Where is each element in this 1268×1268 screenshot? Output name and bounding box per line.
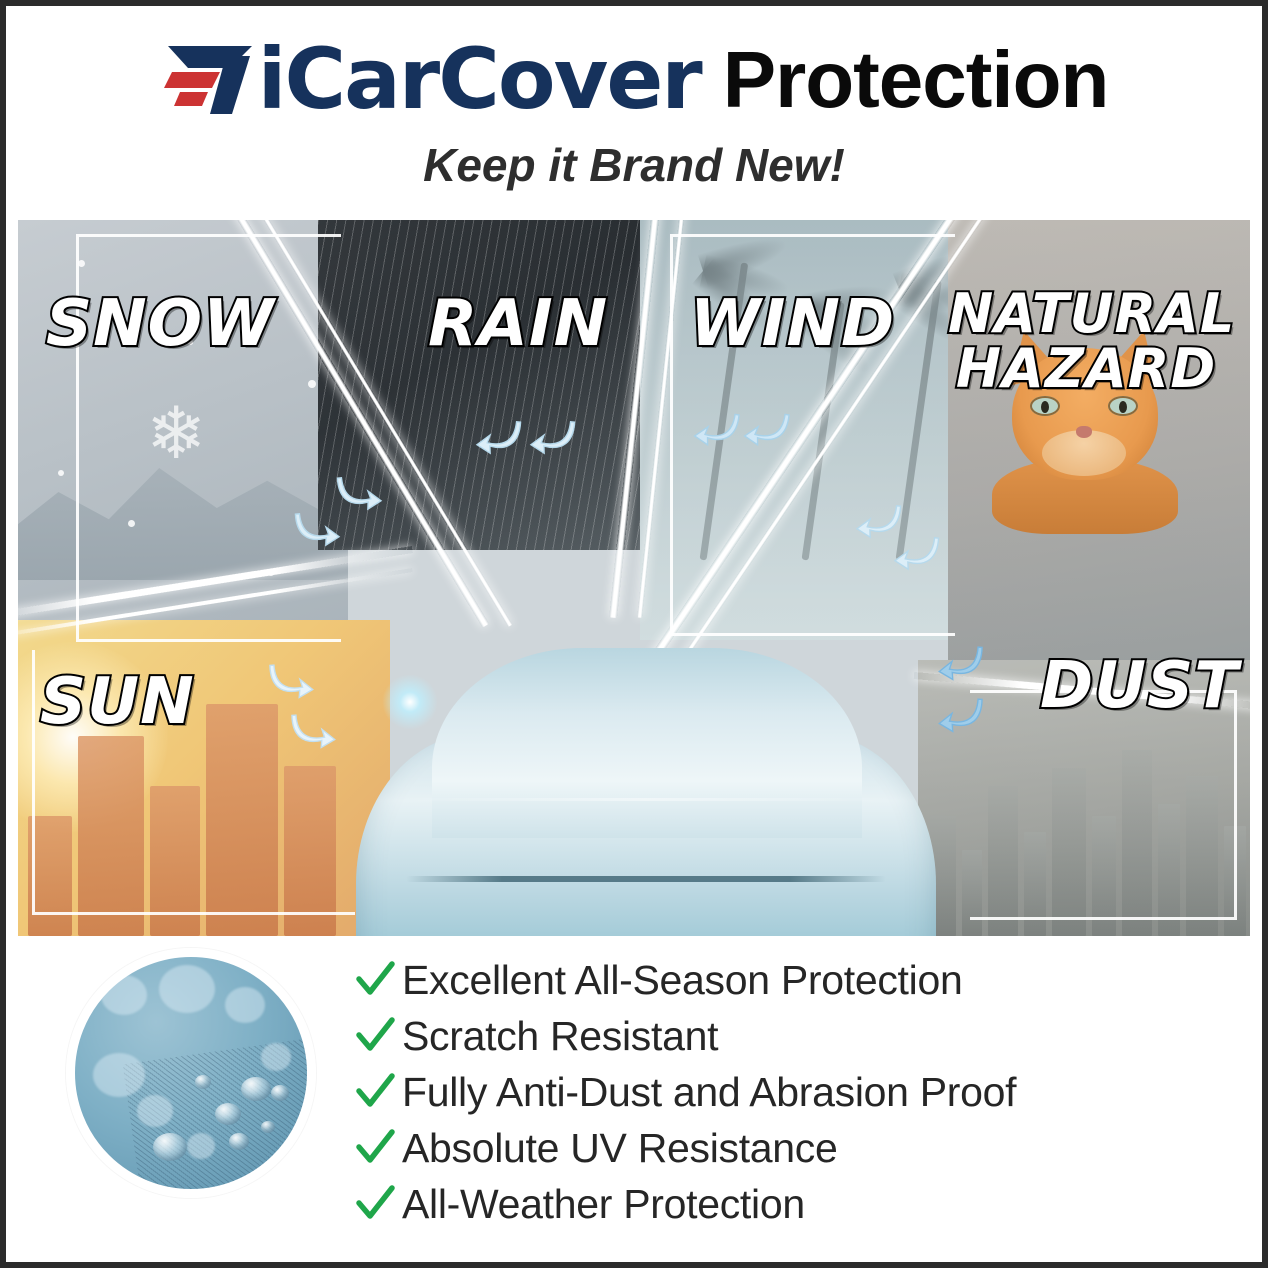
panel-label-dust: DUST: [1040, 654, 1239, 719]
list-item: Excellent All-Season Protection: [348, 954, 1208, 1006]
list-item: Scratch Resistant: [348, 1010, 1208, 1062]
brand-lockup: iCarCover Protection: [6, 34, 1262, 126]
check-icon: [348, 1071, 402, 1113]
curved-deflect-arrow-icon: [937, 640, 986, 683]
panel-label-sun: SUN: [40, 670, 195, 735]
check-icon: [348, 959, 402, 1001]
protection-collage: ❄: [18, 220, 1250, 936]
wing-chevron-logo-icon: [160, 42, 256, 118]
curved-deflect-arrow-icon: [892, 530, 942, 575]
product-infographic: iCarCover Protection Keep it Brand New! …: [0, 0, 1268, 1268]
list-item: Fully Anti-Dust and Abrasion Proof: [348, 1066, 1208, 1118]
water-beading-swatch: [66, 948, 316, 1198]
brand-suffix: Protection: [723, 44, 1109, 116]
feature-text: Fully Anti-Dust and Abrasion Proof: [402, 1069, 1016, 1116]
curved-deflect-arrow-icon: [267, 658, 316, 701]
curved-deflect-arrow-icon: [528, 414, 578, 459]
curved-deflect-arrow-icon: [474, 414, 524, 459]
feature-text: Scratch Resistant: [402, 1013, 718, 1060]
covered-car: [336, 648, 956, 936]
check-icon: [348, 1015, 402, 1057]
curved-deflect-arrow-icon: [691, 405, 742, 451]
feature-list: Excellent All-Season Protection Scratch …: [348, 954, 1208, 1234]
tagline: Keep it Brand New!: [6, 138, 1262, 192]
car-cover-roof: [432, 648, 862, 838]
curved-deflect-arrow-icon: [334, 470, 384, 515]
brand-name: iCarCover: [258, 42, 701, 118]
panel-label-rain: RAIN: [428, 292, 608, 357]
panel-label-hazard: NATURAL HAZARD: [948, 286, 1224, 396]
curved-deflect-arrow-icon: [289, 708, 338, 751]
curved-deflect-arrow-icon: [292, 506, 342, 551]
curved-deflect-arrow-icon: [937, 692, 986, 735]
check-icon: [348, 1127, 402, 1169]
snowflake-icon: ❄: [146, 398, 206, 470]
shine-sparkle: [382, 674, 438, 730]
list-item: All-Weather Protection: [348, 1178, 1208, 1230]
feature-text: All-Weather Protection: [402, 1181, 805, 1228]
check-icon: [348, 1183, 402, 1225]
feature-text: Absolute UV Resistance: [402, 1125, 838, 1172]
panel-label-wind: WIND: [690, 292, 895, 357]
curved-deflect-arrow-icon: [741, 405, 792, 451]
features-section: Excellent All-Season Protection Scratch …: [18, 936, 1250, 1256]
feature-text: Excellent All-Season Protection: [402, 957, 962, 1004]
panel-label-snow: SNOW: [46, 292, 275, 357]
list-item: Absolute UV Resistance: [348, 1122, 1208, 1174]
header: iCarCover Protection Keep it Brand New!: [6, 6, 1262, 202]
